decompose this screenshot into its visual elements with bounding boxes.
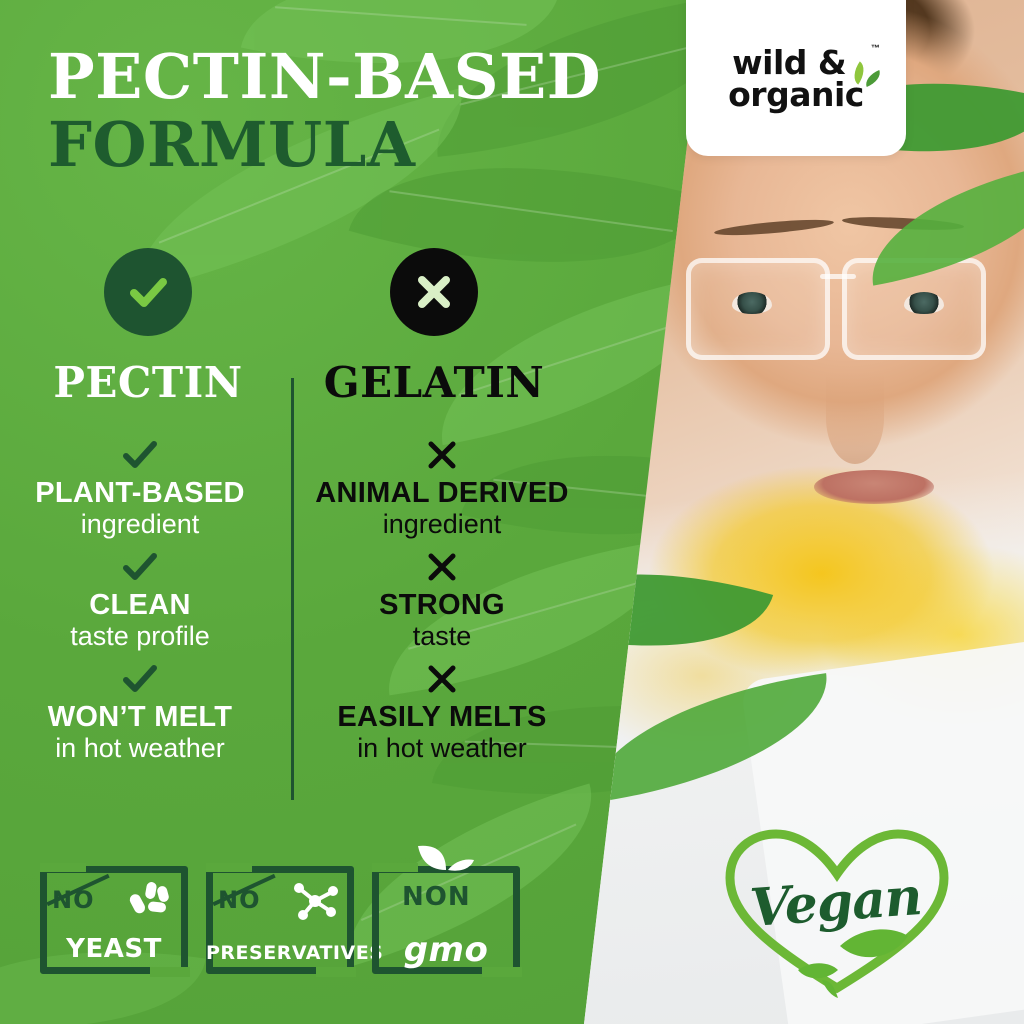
lips — [814, 470, 934, 504]
column-title-pectin: PECTIN — [28, 358, 268, 407]
certification-seals: NO YEAST NO — [40, 866, 540, 986]
leaf-icon-dark — [862, 70, 883, 87]
table-row: WON’T MELT in hot weather EASILY MELTS i… — [0, 664, 600, 776]
row-3-pectin-primary: WON’T MELT — [0, 702, 280, 733]
row-2-pectin: CLEAN taste profile — [0, 552, 280, 652]
row-2-pectin-primary: CLEAN — [0, 590, 280, 621]
x-circle-icon — [390, 248, 478, 336]
leaves-icon — [416, 844, 476, 872]
glasses-bridge — [820, 274, 856, 279]
seal-no-yeast: NO YEAST — [40, 866, 188, 974]
comparison-icons — [0, 248, 600, 358]
row-3-gelatin: EASILY MELTS in hot weather — [302, 664, 582, 764]
brand-logo-card[interactable]: wild & organic ™ — [686, 0, 906, 156]
brand-logo-line2: organic — [728, 79, 864, 111]
comparison-titles: PECTIN GELATIN — [0, 358, 600, 420]
no-yeast-icon — [118, 878, 180, 924]
row-3-gelatin-primary: EASILY MELTS — [302, 702, 582, 733]
headline: PECTIN-BASED FORMULA — [48, 46, 688, 176]
nose — [826, 372, 884, 464]
check-icon — [0, 552, 280, 586]
row-1-pectin-primary: PLANT-BASED — [0, 478, 280, 509]
row-1-gelatin-primary: ANIMAL DERIVED — [302, 478, 582, 509]
row-2-pectin-secondary: taste profile — [0, 621, 280, 651]
eye-left — [732, 292, 772, 314]
row-2-gelatin: STRONG taste — [302, 552, 582, 652]
table-row: PLANT-BASED ingredient ANIMAL DERIVED in… — [0, 440, 600, 552]
seal-no-preservatives-word2: PRESERVATIVES — [206, 942, 354, 964]
brand-logo: wild & organic ™ — [728, 47, 864, 110]
seal-non-gmo: NON gmo — [372, 866, 520, 974]
seal-non-gmo-word2: gmo — [372, 930, 520, 970]
row-3-pectin: WON’T MELT in hot weather — [0, 664, 280, 764]
check-circle-icon — [104, 248, 192, 336]
vegan-badge: Vegan — [712, 820, 962, 1000]
row-2-gelatin-primary: STRONG — [302, 590, 582, 621]
poster-root: wild & organic ™ PECTIN-BASED FORMULA — [0, 0, 1024, 1024]
trademark-symbol: ™ — [871, 43, 880, 53]
seal-non-gmo-word1: NON — [402, 882, 471, 912]
headline-line2: FORMULA — [48, 114, 688, 176]
eye-right — [904, 292, 944, 314]
row-3-pectin-secondary: in hot weather — [0, 733, 280, 763]
seal-no-yeast-word2: YEAST — [40, 934, 188, 964]
column-title-gelatin: GELATIN — [314, 358, 554, 407]
seal-no-preservatives: NO PRESERVATIVES — [206, 866, 354, 974]
row-1-pectin: PLANT-BASED ingredient — [0, 440, 280, 540]
row-2-gelatin-secondary: taste — [302, 621, 582, 651]
table-row: CLEAN taste profile STRONG taste — [0, 552, 600, 664]
row-1-gelatin-secondary: ingredient — [302, 509, 582, 539]
check-icon — [0, 440, 280, 474]
check-icon — [0, 664, 280, 698]
x-icon — [302, 664, 582, 698]
row-3-gelatin-secondary: in hot weather — [302, 733, 582, 763]
no-preservatives-icon — [284, 878, 346, 924]
row-1-pectin-secondary: ingredient — [0, 509, 280, 539]
eyeglasses — [686, 258, 986, 354]
vegan-label: Vegan — [748, 866, 923, 939]
x-icon — [302, 552, 582, 586]
comparison-rows: PLANT-BASED ingredient ANIMAL DERIVED in… — [0, 440, 600, 776]
headline-line1: PECTIN-BASED — [48, 46, 688, 108]
x-icon — [302, 440, 582, 474]
comparison-header: PECTIN GELATIN — [0, 248, 600, 420]
row-1-gelatin: ANIMAL DERIVED ingredient — [302, 440, 582, 540]
